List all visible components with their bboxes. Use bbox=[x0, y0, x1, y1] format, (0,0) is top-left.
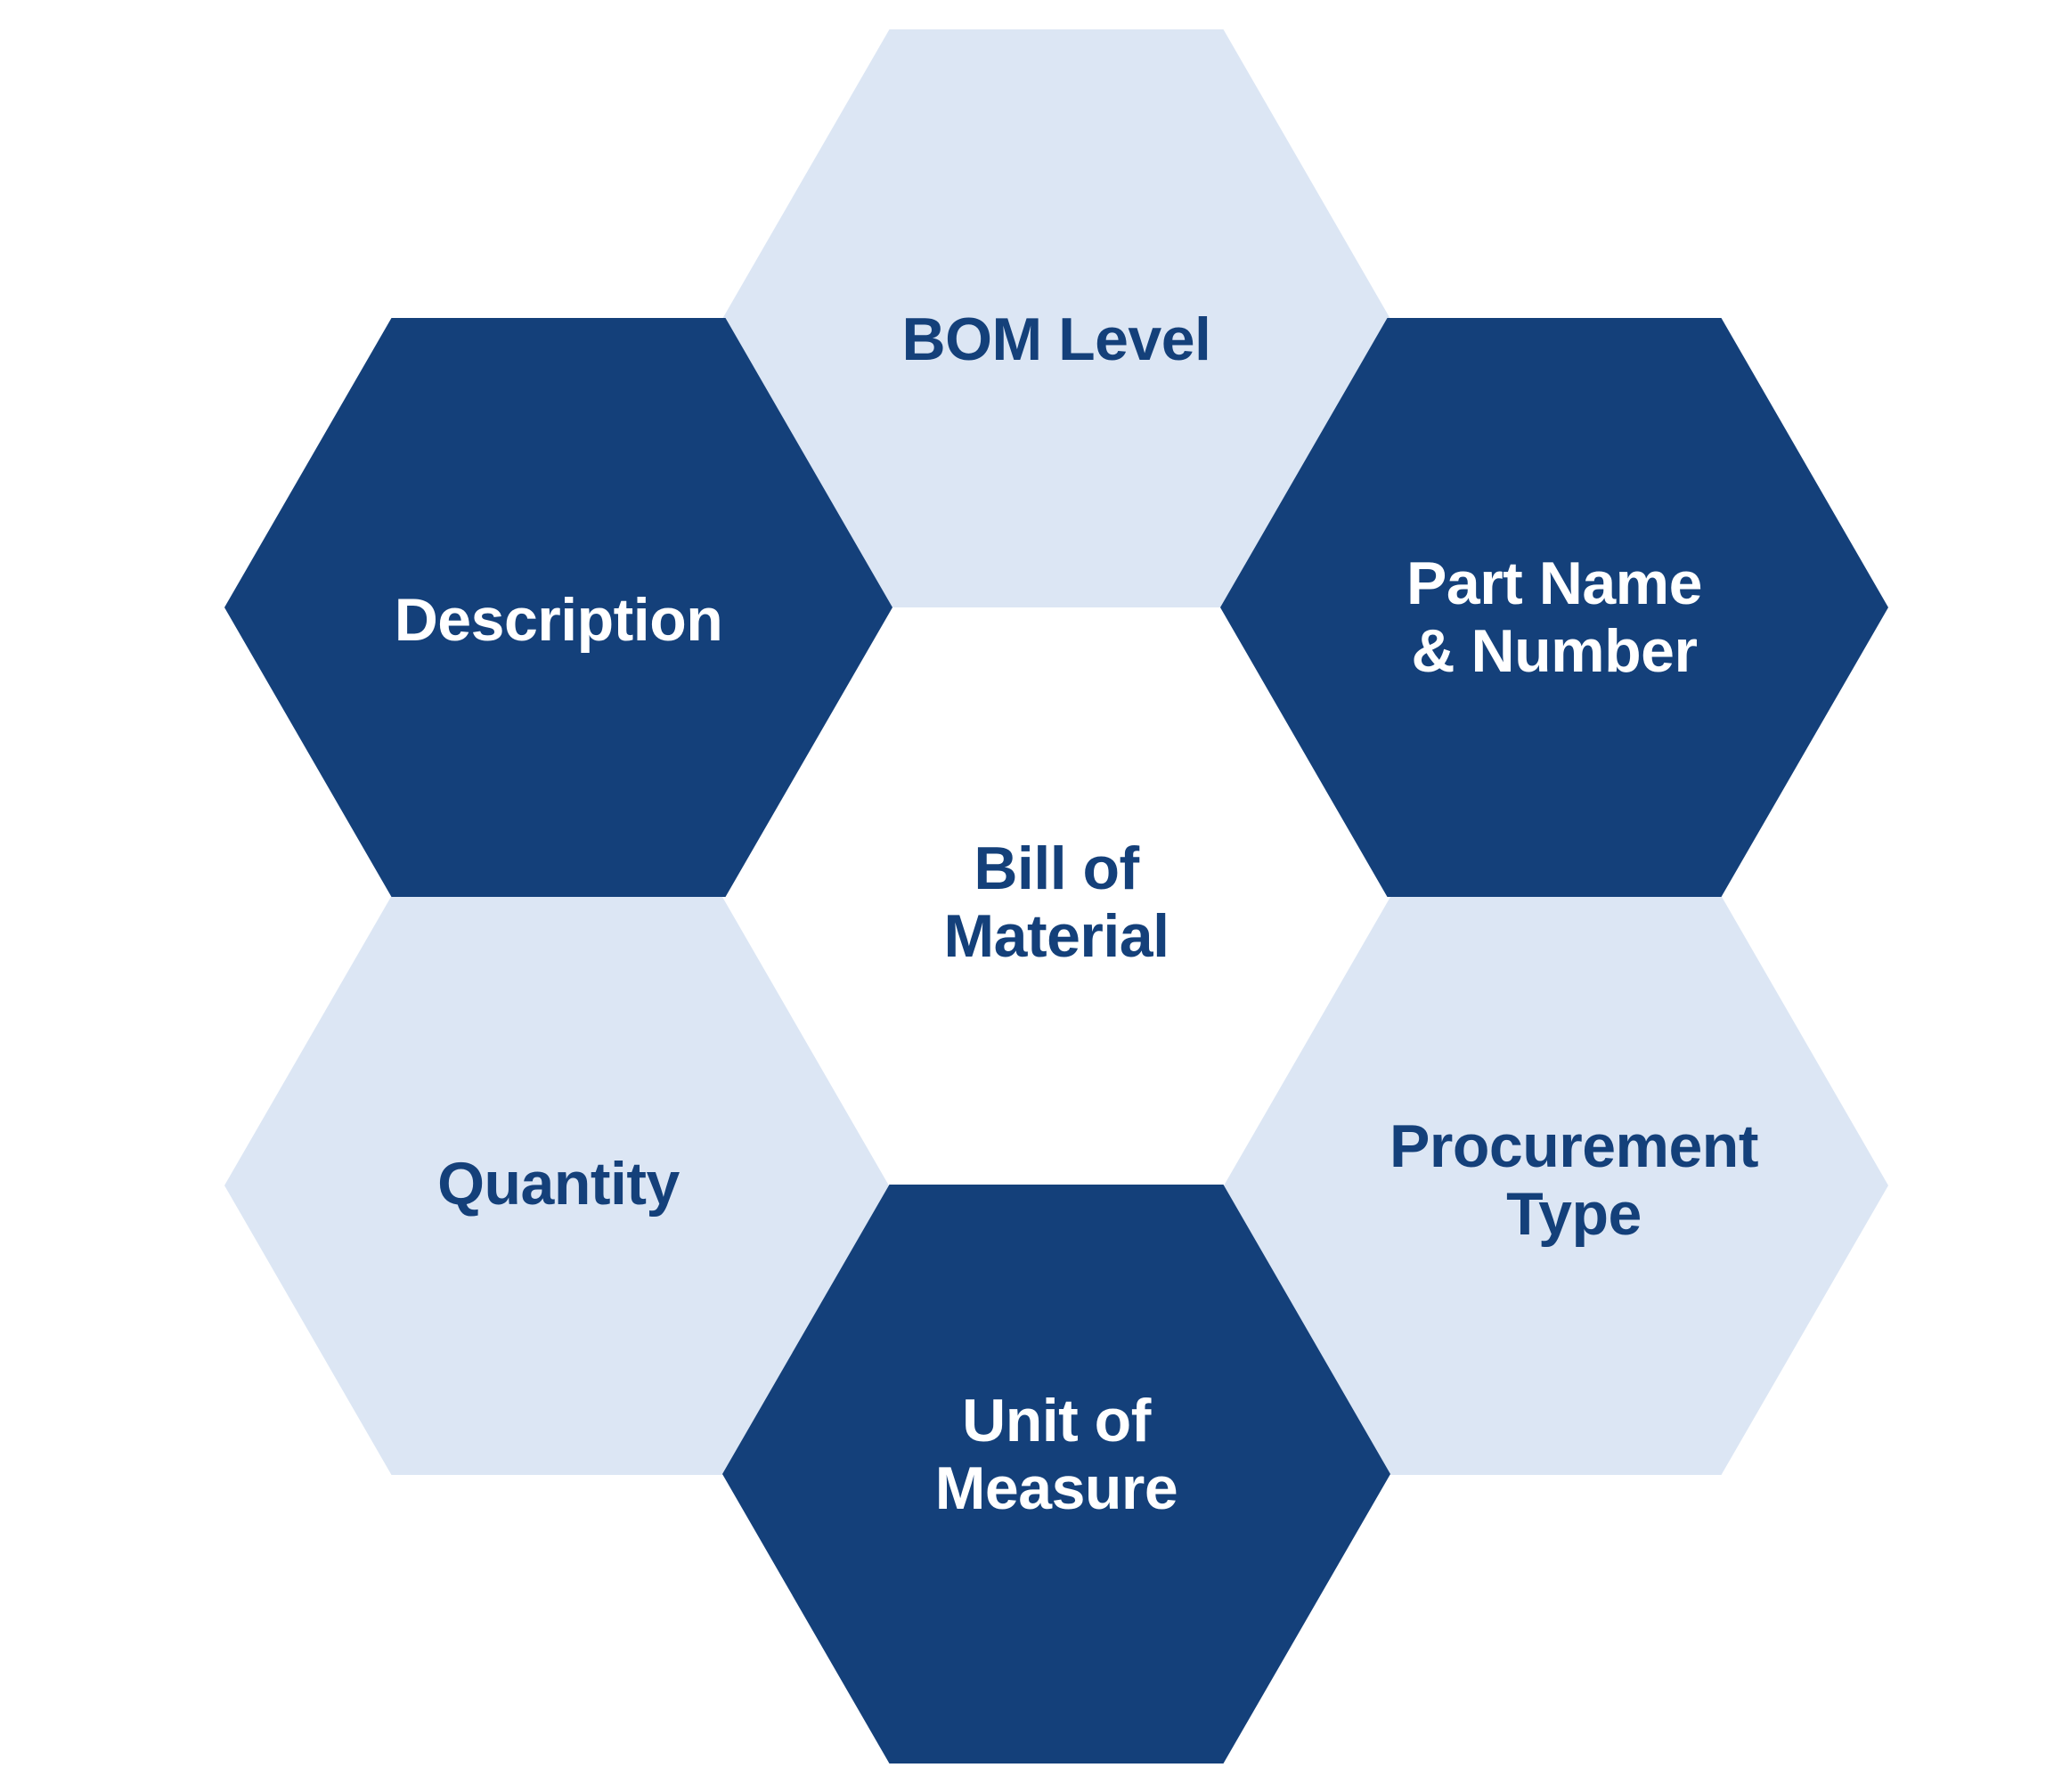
hexagon-label-quantity: Quantity bbox=[402, 1150, 715, 1218]
hexagon-label-procurement-type: Procurement Type bbox=[1354, 1112, 1794, 1248]
bill-of-material-hexagon-diagram: BOM Level Procurement Type Quantity Bill… bbox=[0, 0, 2070, 1792]
hexagon-label-unit-of-measure: Unit of Measure bbox=[900, 1387, 1213, 1522]
hexagon-label-bom-level: BOM Level bbox=[867, 305, 1247, 373]
diagram-center-title: Bill of Material bbox=[909, 835, 1205, 970]
hexagon-label-part-name-number: Part Name & Number bbox=[1371, 550, 1738, 685]
hexagon-label-description: Description bbox=[359, 586, 759, 654]
